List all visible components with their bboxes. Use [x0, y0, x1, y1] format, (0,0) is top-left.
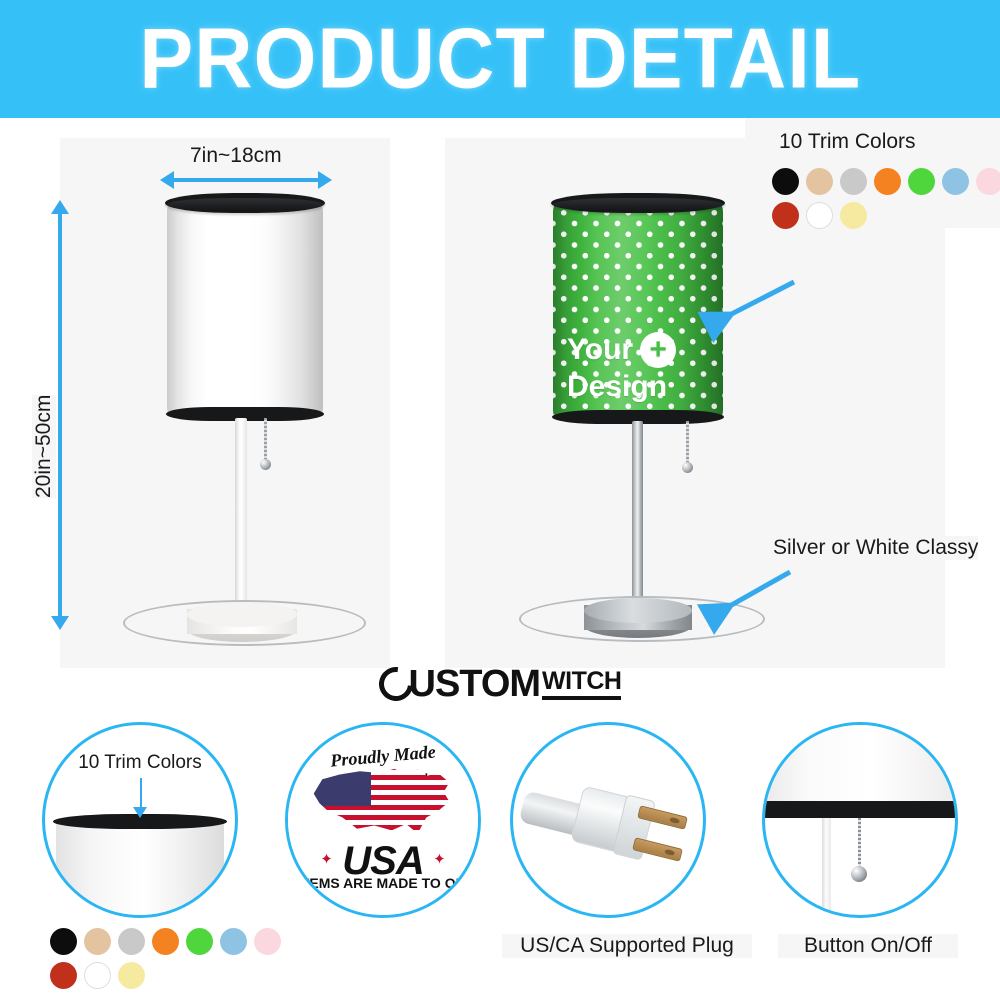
trim-colors-swatch-list: [772, 168, 1000, 229]
made-in-usa-feature: Proudly Made in the ✦ USA ✦ ALL ITEMS AR…: [285, 722, 485, 932]
white-shade-top-trim: [165, 193, 325, 213]
trim-swatch[interactable]: [772, 168, 799, 195]
page-title: PRODUCT DETAIL: [139, 11, 861, 108]
button-onoff-feature: Button On/Off: [762, 722, 982, 972]
white-lamp-chain-ball[interactable]: [260, 459, 271, 470]
trim-swatch[interactable]: [908, 168, 935, 195]
trim-swatch[interactable]: [976, 168, 1000, 195]
trim-swatch[interactable]: [84, 962, 111, 989]
trim-colors-arrow-icon: [690, 276, 800, 346]
trim-swatch[interactable]: [806, 202, 833, 229]
trim-swatch[interactable]: [186, 928, 213, 955]
white-lamp-base: [187, 602, 297, 642]
design-line-2: Design: [567, 372, 676, 402]
trim-swatch[interactable]: [118, 928, 145, 955]
design-line-2-text: Design: [567, 372, 667, 402]
trim-colors-inner-label: 10 Trim Colors: [78, 752, 202, 774]
trim-swatch[interactable]: [152, 928, 179, 955]
trim-swatch[interactable]: [840, 168, 867, 195]
plug-feature: US/CA Supported Plug: [510, 722, 730, 972]
trim-swatch[interactable]: [50, 962, 77, 989]
trim-swatch[interactable]: [806, 168, 833, 195]
usa-badge: Proudly Made in the ✦ USA ✦ ALL ITEMS AR…: [288, 725, 478, 915]
trim-colors-swatch-list-bottom: [50, 928, 295, 989]
trim-swatch[interactable]: [118, 962, 145, 989]
trim-swatch[interactable]: [254, 928, 281, 955]
trim-colors-down-arrow-icon: [140, 778, 142, 808]
brand-logo: USTOM WITCH: [0, 662, 1000, 706]
brand-custom-text: USTOM: [409, 663, 541, 706]
onoff-pole-graphic: [822, 818, 831, 915]
white-shade-surface: [167, 202, 323, 417]
green-lamp-base: [584, 598, 692, 638]
usa-star-right-icon: ✦: [433, 850, 446, 868]
plus-icon: +: [640, 332, 676, 368]
plug-circle: [510, 722, 706, 918]
trim-swatch[interactable]: [942, 168, 969, 195]
design-line-1-text: Your: [567, 335, 633, 365]
trim-swatch[interactable]: [84, 928, 111, 955]
trim-swatch[interactable]: [220, 928, 247, 955]
base-finish-arrow-icon: [690, 558, 800, 638]
green-shade-top-trim: [551, 193, 725, 213]
trim-top-highlight: [553, 198, 723, 211]
trim-colors-shade-graphic: [56, 820, 223, 918]
onoff-chain-ball[interactable]: [851, 866, 867, 882]
usa-flag-canton: [311, 765, 372, 806]
base-finish-label: Silver or White Classy: [773, 536, 978, 560]
usa-star-left-icon: ✦: [320, 850, 333, 868]
green-lamp-chain-ball[interactable]: [682, 462, 693, 473]
trim-colors-label: 10 Trim Colors: [779, 130, 916, 154]
header-banner: PRODUCT DETAIL: [0, 0, 1000, 118]
white-lamp-shade: [167, 202, 323, 417]
trim-swatch[interactable]: [50, 928, 77, 955]
design-line-1: Your +: [567, 332, 676, 368]
design-placeholder-text: Your + Design: [567, 332, 676, 402]
main-product-area: 7in~18cm 20in~50cm: [0, 118, 1000, 666]
onoff-pull-chain[interactable]: [858, 818, 861, 869]
trim-top-highlight: [167, 198, 323, 211]
base-top: [187, 602, 297, 627]
brand-witch-text: WITCH: [542, 669, 621, 700]
trim-colors-feature: 10 Trim Colors: [40, 722, 260, 992]
trim-swatch[interactable]: [874, 168, 901, 195]
button-onoff-circle: [762, 722, 958, 918]
white-lamp-pole: [235, 418, 247, 618]
white-lamp-pull-chain[interactable]: [264, 418, 267, 461]
trim-swatch[interactable]: [772, 202, 799, 229]
usa-map-flag-icon: [311, 765, 455, 845]
made-in-usa-circle: Proudly Made in the ✦ USA ✦ ALL ITEMS AR…: [285, 722, 481, 918]
green-lamp-pull-chain[interactable]: [686, 421, 689, 464]
base-top: [584, 598, 692, 623]
prong-hole: [670, 816, 680, 824]
button-onoff-caption: Button On/Off: [778, 934, 958, 958]
plug-caption: US/CA Supported Plug: [502, 934, 752, 958]
usa-proudly-text: Proudly Made: [330, 741, 437, 771]
prong-hole: [664, 849, 674, 857]
product-detail-page: PRODUCT DETAIL 7in~18cm 20in~50cm: [0, 0, 1000, 1000]
green-lamp-pole: [632, 421, 643, 614]
white-lamp: [0, 118, 500, 666]
trim-swatch[interactable]: [840, 202, 867, 229]
usa-subline-text: ALL ITEMS ARE MADE TO ORDER!: [285, 875, 481, 891]
onoff-shade-graphic: [762, 722, 958, 805]
shade-gloss: [167, 202, 323, 417]
trim-colors-circle: 10 Trim Colors: [42, 722, 238, 918]
trim-colors-down-arrow-head-icon: [133, 807, 147, 818]
onoff-trim-graphic: [762, 801, 958, 818]
